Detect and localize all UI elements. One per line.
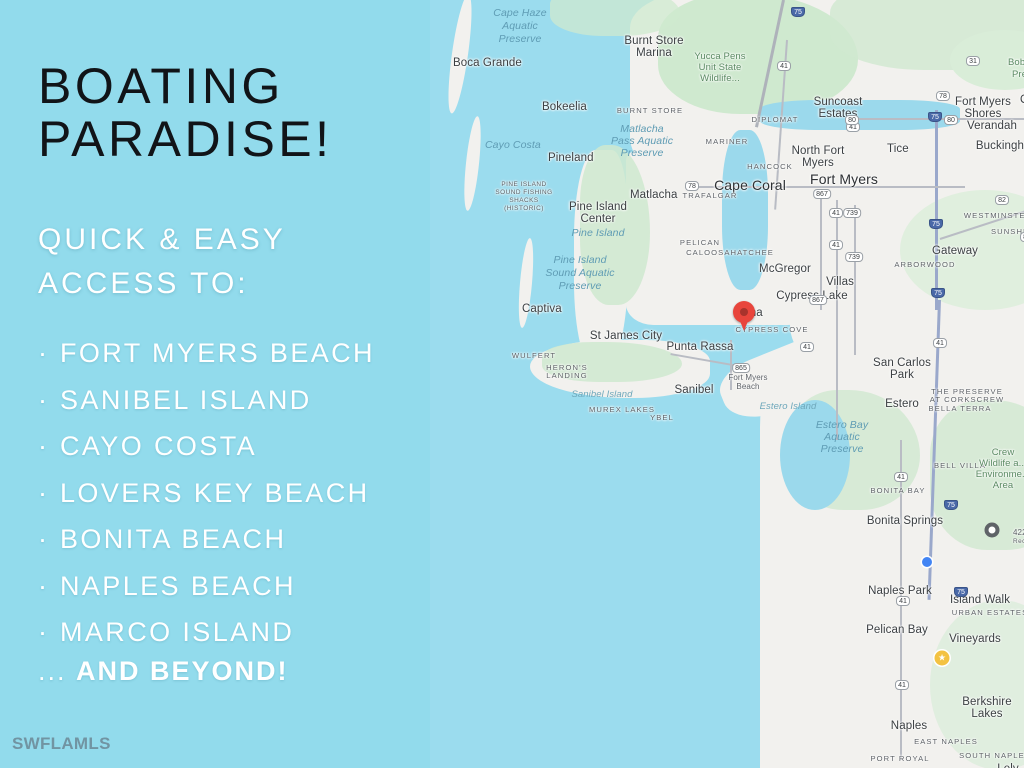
map-label: CALOOSAHATCHEE [686,249,774,257]
watermark-swflamls: SWFLAMLS [12,734,111,754]
map-label: Punta Rassa [667,341,734,353]
list-item-label: LOVERS KEY BEACH [60,478,370,508]
bullet-dot-icon: · [38,516,60,563]
map-label: Pass Aquatic [611,136,673,147]
map-label: Aquatic [824,432,860,443]
highway-shield-icon: 41 [894,472,908,482]
map-label: LANDING [546,372,587,380]
map-label: Matlacha [630,189,677,201]
list-item: ·FORT MYERS BEACH [38,330,458,377]
text-panel: BOATING PARADISE! QUICK & EASY ACCESS TO… [0,0,440,768]
bullet-dot-icon: · [38,470,60,517]
map-label: Bokeelia [542,101,587,113]
map-label: Center [580,213,615,225]
map-label: Pres... [1012,70,1024,80]
highway-shield-icon: 75 [944,500,958,510]
highway-shield-icon: 80 [944,115,958,125]
map-label: SOUTH NAPLES [959,752,1024,760]
highway-shield-icon: 75 [931,288,945,298]
circle-poi-icon[interactable] [985,523,1000,538]
map-label: Buckingham [976,140,1024,152]
map-label: URBAN ESTATES [952,609,1024,617]
page-title: BOATING PARADISE! [38,60,438,166]
list-item: ·MARCO ISLAND [38,609,458,656]
highway-shield-icon: 41 [896,596,910,606]
location-marker-pin[interactable] [733,301,755,331]
and-beyond-text: AND BEYOND! [76,656,289,686]
list-item: ·SANIBEL ISLAND [38,377,458,424]
map-label: Sanibel Island [571,390,632,400]
map-label: Fort Myers [810,172,878,187]
highway-shield-icon: 75 [928,112,942,122]
map-label: Suncoast [814,96,863,108]
listing-flyer: Cape HazeAquaticPreserveBoca GrandeBokee… [0,0,1024,768]
map-label: Pine Island [553,255,606,266]
star-poi-icon[interactable]: ★ [935,651,950,666]
headline-line-2: PARADISE! [38,113,438,166]
map-label: MUREX LAKES [589,406,655,414]
map-label: Pine Island [569,201,627,213]
map-label: McGregor [759,263,811,275]
map-label: Aquatic [502,21,538,32]
map-label: Preserve [821,444,864,455]
map-label: PELICAN [680,239,720,247]
highway-shield-icon: 78 [936,91,950,101]
map-label: Sound Aquatic [545,268,614,279]
map-label: 4226 S [1013,529,1024,537]
map-label: PORT ROYAL [870,755,929,763]
map-label: Recentl [1013,539,1024,546]
highway-shield-icon: 31 [966,56,980,66]
list-item-label: CAYO COSTA [60,431,257,461]
map-label: Wildlife... [700,74,740,84]
map-label: SOUND FISHING [495,190,552,197]
highway-shield-icon: 865 [732,363,750,373]
highway-shield-icon: 41 [895,680,909,690]
map-label: Bob J... [1008,58,1024,68]
map-label: Matlacha [620,124,663,135]
highway-shield-icon: 82 [1020,232,1024,242]
bullet-dot-icon: · [38,563,60,610]
map-label: North Fort [792,145,845,157]
highway-shield-icon: 867 [813,189,831,199]
map-label: Pine Island [571,228,624,239]
subheading-line-2: ACCESS TO: [38,262,438,306]
map-label: ARBORWOOD [894,261,955,269]
list-item: ·NAPLES BEACH [38,563,458,610]
highway-shield-icon: 78 [685,181,699,191]
map-label: Estero Bay [816,420,868,431]
list-item-label: BONITA BEACH [60,524,286,554]
map-label: Preserve [499,34,542,45]
highway-shield-icon: 41 [933,338,947,348]
land-cayo-costa [461,116,484,212]
map-label: Unit State [699,63,742,73]
map-label: EAST NAPLES [914,738,978,746]
map-label: Naples [891,720,927,732]
highway-shield-icon: 41 [777,61,791,71]
road-i75-mid [935,110,938,310]
highway-shield-icon: 82 [995,195,1009,205]
road-739 [854,205,856,355]
list-item-label: FORT MYERS BEACH [60,338,375,368]
highway-shield-icon: 41 [829,208,843,218]
map-label: Crew [992,448,1015,458]
highway-shield-icon: 75 [954,587,968,597]
map-label: San Carlos [873,357,931,369]
map-label: Captiva [522,303,562,315]
map-label: DIPLOMAT [751,116,798,124]
map-label: Gateway [932,245,978,257]
map-label: Yucca Pens [694,52,745,62]
highway-shield-icon: 41 [800,342,814,352]
highway-shield-icon: 75 [929,219,943,229]
map-label: Pineland [548,152,594,164]
map-label: PINE ISLAND [501,182,546,189]
and-beyond-line: ... AND BEYOND! [38,656,289,687]
bullet-dot-icon: · [38,423,60,470]
map-label: Boca Grande [453,57,522,69]
subheading-line-1: QUICK & EASY [38,218,438,262]
map-label: Myers [802,157,834,169]
map-label: SHACKS [509,198,538,205]
list-item-label: SANIBEL ISLAND [60,385,312,415]
map-label: Lely [997,763,1019,768]
list-item: ·CAYO COSTA [38,423,458,470]
map-label: Preserve [621,148,664,159]
map-label: BONITA BAY [870,487,925,495]
destination-list: ·FORT MYERS BEACH·SANIBEL ISLAND·CAYO CO… [38,330,458,656]
map-label: Fort Myers [955,96,1011,108]
map-label: Lakes [971,708,1002,720]
subheading: QUICK & EASY ACCESS TO: [38,218,438,305]
map-label: HANCOCK [747,163,793,171]
map-label: Vineyards [949,633,1001,645]
map-label: Olga [1020,94,1024,106]
ellipsis-lead: ... [38,656,76,686]
highway-shield-icon: 739 [845,252,863,262]
bullet-dot-icon: · [38,377,60,424]
map-label: Marina [636,47,672,59]
highway-shield-icon: 739 [843,208,861,218]
map-label: Sanibel [674,384,713,396]
map-label: Wildlife a... [979,459,1024,469]
map-label: Cayo Costa [485,140,541,151]
blue-dot-poi-icon[interactable] [922,557,932,567]
map-label: St James City [590,330,662,342]
list-item-label: MARCO ISLAND [60,617,294,647]
map-label: Area [993,481,1013,491]
bullet-dot-icon: · [38,609,60,656]
pin-dot [740,308,748,316]
map-panel[interactable]: Cape HazeAquaticPreserveBoca GrandeBokee… [430,0,1024,768]
map-label: Preserve [559,281,602,292]
map-label: Shores [964,108,1001,120]
map-label: Tice [887,143,909,155]
map-label: TRAFALGAR [682,192,737,200]
map-label: MARINER [706,138,749,146]
pin-tip [738,316,750,331]
map-label: Cape Haze [493,8,546,19]
highway-shield-icon: 41 [829,240,843,250]
map-label: Estero [885,398,919,410]
headline-line-1: BOATING [38,60,438,113]
map-label: (HISTORIC) [504,206,544,213]
highway-shield-icon: 80 [845,115,859,125]
map-label: YBEL [650,414,674,422]
map-label: Environme... [976,470,1024,480]
map-label: WULFERT [512,352,556,360]
list-item: ·LOVERS KEY BEACH [38,470,458,517]
map-label: Beach [736,383,759,391]
map-label: Verandah [967,120,1017,132]
map-label: Bonita Springs [867,515,943,527]
map-label: Villas [826,276,854,288]
bullet-dot-icon: · [38,330,60,377]
map-label: Berkshire [962,696,1011,708]
map-label: BELLA TERRA [928,405,991,413]
map-label: WESTMINSTER [964,212,1024,220]
map-label: BURNT STORE [617,107,683,115]
map-label: Pelican Bay [866,624,928,636]
list-item: ·BONITA BEACH [38,516,458,563]
map-label: Burnt Store [624,35,683,47]
map-label: Estero Island [760,402,817,412]
highway-shield-icon: 867 [809,295,827,305]
list-item-label: NAPLES BEACH [60,571,296,601]
map-label: Park [890,369,914,381]
road-us41-south [836,200,838,440]
highway-shield-icon: 75 [791,7,805,17]
map-label: AT CORKSCREW [930,396,1005,404]
